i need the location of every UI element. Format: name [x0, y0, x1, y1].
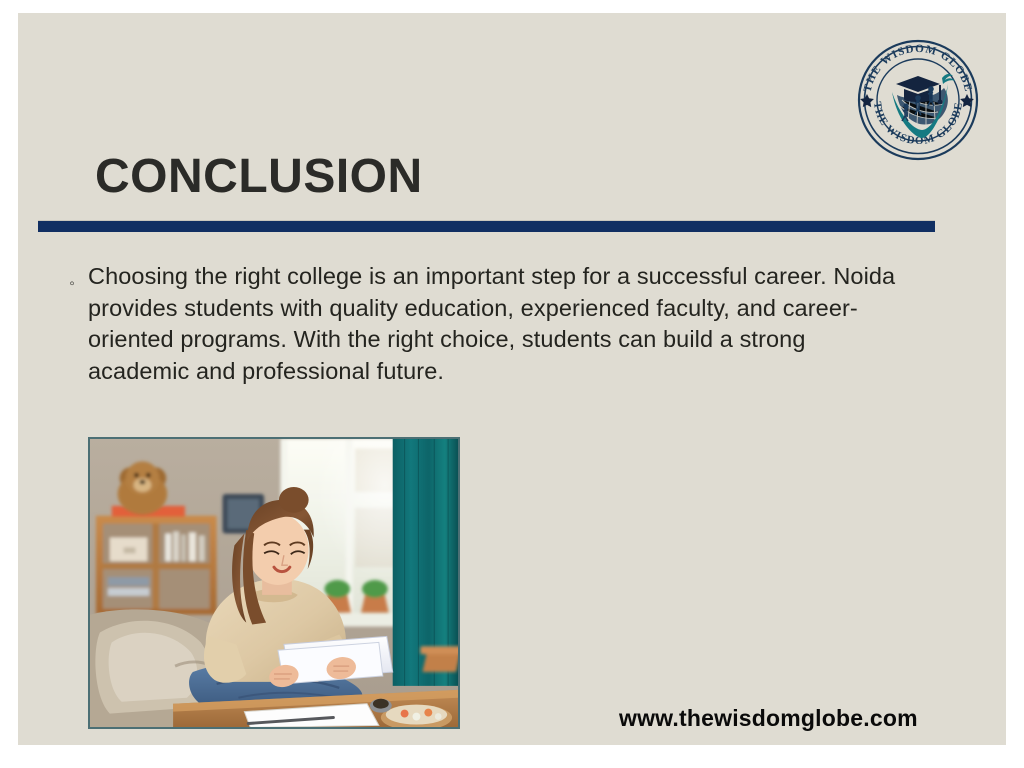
- page-title: CONCLUSION: [95, 152, 795, 202]
- title-divider-rule: [38, 221, 935, 232]
- list-item: ◦ Choosing the right college is an impor…: [66, 261, 896, 387]
- footer-website-url[interactable]: www.thewisdomglobe.com: [619, 705, 918, 732]
- list-item-text: Choosing the right college is an importa…: [88, 261, 896, 387]
- student-reading-photo: [88, 437, 460, 729]
- bullet-marker-icon: ◦: [66, 276, 78, 291]
- slide-canvas: THE WISDOM GLOBE THE WISDOM GLOBE: [18, 13, 1006, 745]
- body-content: ◦ Choosing the right college is an impor…: [66, 261, 896, 387]
- the-wisdom-globe-logo: THE WISDOM GLOBE THE WISDOM GLOBE: [850, 32, 986, 168]
